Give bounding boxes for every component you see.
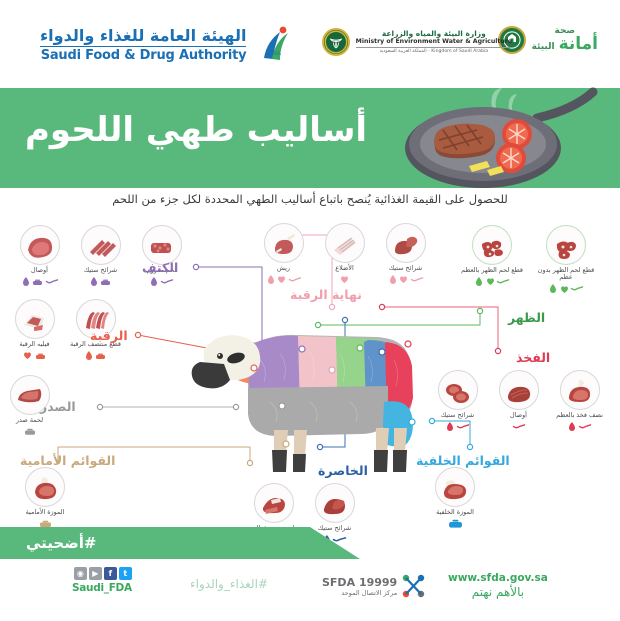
group-shoulder: أوصال شرائح ستيك [12,225,198,287]
item-cut[interactable]: الأضلاع [317,223,372,285]
pan-icon [46,279,58,285]
grill-flame-icon [568,422,576,432]
meat-thumb-icon [499,370,539,410]
grill-flame-icon [150,277,158,287]
pot-icon [95,352,106,360]
sheep-illustration [190,310,430,480]
sfda-knot-icon [402,573,428,599]
meat-thumb-icon [325,223,365,263]
group-label-shoulder: الكتف [142,260,178,275]
cooking-methods [378,274,433,285]
cooking-methods [73,276,128,287]
cooking-methods [256,274,311,285]
subtitle: للحصول على القيمة الغذائية يُنصح باتباع … [0,192,620,206]
page-title: أساليب طهي اللحوم [25,110,367,150]
call-sub: مركز الاتصال الموحد [322,589,397,597]
items-neck-end: ريش الأضلاع [256,223,442,285]
meat-thumb-icon [142,225,182,265]
cooking-methods [491,421,546,432]
meat-thumb-icon [20,225,60,265]
meat-thumb-icon [254,483,294,523]
item-cut[interactable]: أوصال [491,370,546,432]
logo-amana: صحة البيئة أمانة [498,26,598,54]
items-back: قطع لحم الظهر بالعظم قطع لحم الظهر بدون … [460,225,620,295]
logo-sfda: SFDA الهيئة العامة للغذاء والدواء Saudi … [40,24,294,64]
meat-thumb-icon [15,299,55,339]
amana-big: أمانة [559,36,598,53]
pot-icon [32,278,43,286]
twitter-icon[interactable]: t [119,567,132,580]
meat-cuts-diagram: أوصال شرائح ستيك [0,215,620,525]
pot-icon [24,427,36,436]
cooking-methods [134,276,189,287]
pan-icon [457,424,469,430]
instagram-icon[interactable]: ◉ [74,567,87,580]
pan-icon [571,286,583,292]
meat-thumb-icon [264,223,304,263]
group-label-neck-end: نهاية الرقبة [290,287,362,302]
mewa-wordmark: وزارة البيئة والمياه والزراعة Ministry o… [356,29,512,55]
items-hind-legs: الموزة الخلفية [410,467,500,529]
infographic-page: صحة البيئة أمانة وزارة البيئة وال [0,0,620,621]
item-label: أوصال [491,412,546,419]
item-cut[interactable]: شرائح ستيك [430,370,485,432]
item-cut[interactable]: نصف فخذ بالعظم [552,370,607,432]
call-text: SFDA 19999 مركز الاتصال الموحد [322,576,397,597]
item-label: شرائح ستيك [73,267,128,274]
group-label-thigh: الفخذ [516,350,550,365]
heart-icon [399,275,408,284]
footer: t f ▶ ◉ Saudi_FDA #الغذاء_والدواء [0,559,620,621]
social-handle: Saudi_FDA [72,582,132,594]
group-label-front-legs: القوائم الأمامية [20,453,115,468]
item-cut[interactable]: فيليه الرقبة [7,299,62,361]
svg-text:SFDA: SFDA [269,51,282,57]
item-cut[interactable]: الموزة الخلفية [428,467,483,529]
item-cut[interactable]: لحم مفروم [134,225,189,287]
grill-flame-icon [90,277,98,287]
item-cut[interactable]: أوصال [12,225,67,287]
item-cut[interactable]: الموزة الأمامية [18,467,73,529]
item-label: لحمة صدر [2,417,57,424]
meat-thumb-icon [438,370,478,410]
group-front-legs: الموزة الأمامية [0,467,90,529]
grill-flame-icon [85,351,93,361]
item-label: قطع لحم الظهر بدون عظم [534,267,598,282]
meat-thumb-icon [546,225,586,265]
amana-wordmark: صحة البيئة أمانة [532,27,598,53]
sfda-mark-icon: SFDA [254,24,294,64]
item-label: شرائح ستيك [378,265,433,272]
group-neck-end: ريش الأضلاع [256,223,442,285]
item-label: فيليه الرقبة [7,341,62,348]
heart-icon [340,275,349,284]
item-label: أوصال [12,267,67,274]
item-cut[interactable]: شرائح ستيك [73,225,128,287]
mewa-english-name: Ministry of Environment Water & Agricult… [356,38,512,46]
cooking-methods [534,284,598,295]
heart-icon [560,285,569,294]
mewa-arabic-name: وزارة البيئة والمياه والزراعة [356,29,512,38]
cooking-methods [317,274,372,285]
connector-dot [97,404,102,409]
call-label: SFDA [322,576,355,589]
sfda-english-name: Saudi Food & Drug Authority [40,46,246,63]
heart-icon [486,277,495,286]
item-label: الأضلاع [317,265,372,272]
item-label: الموزة الأمامية [18,509,73,516]
meat-thumb-icon [315,483,355,523]
header: صحة البيئة أمانة وزارة البيئة وال [0,0,620,88]
item-label: شرائح ستيك [430,412,485,419]
saudi-emblem-icon [322,28,350,56]
logo-mewa: وزارة البيئة والمياه والزراعة Ministry o… [322,28,512,56]
grill-flame-icon [389,275,397,285]
grill-flame-icon [22,277,30,287]
pan-icon [513,424,525,430]
website-url[interactable]: www.sfda.gov.sa [448,572,548,584]
connector-dot [467,444,472,449]
item-label: نصف فخذ بالعظم [552,412,607,419]
item-label: قطع لحم الظهر بالعظم [460,267,524,274]
connector-dot [135,332,140,337]
meat-thumb-icon [560,370,600,410]
item-cut[interactable]: شرائح ستيك [378,223,433,285]
pot-icon [100,278,111,286]
cooking-methods [68,350,123,361]
pot-icon [35,352,46,360]
facebook-icon[interactable]: f [104,567,117,580]
social-block: t f ▶ ◉ Saudi_FDA [72,567,132,594]
group-label-flank: الخاصرة [318,463,368,478]
heart-icon [277,275,286,284]
item-cut[interactable]: قطع لحم الظهر بدون عظم [534,225,598,295]
connector-dot [495,348,500,353]
hashtag-secondary: #الغذاء_والدواء [190,577,268,591]
pan-icon [289,277,301,283]
group-label-back: الظهر [508,310,545,325]
hashtag-main: #أضحيتي [26,534,96,552]
cooking-methods [460,276,524,287]
connector-dot [477,308,482,313]
group-hind-legs: الموزة الخلفية [410,467,500,529]
amana-line2: البيئة [532,43,555,52]
pan-icon [411,277,423,283]
items-front-legs: الموزة الأمامية [0,467,90,529]
mewa-kingdom-line: Kingdom of Saudi Arabia - المملكة العربي… [356,47,512,55]
meat-thumb-icon [81,225,121,265]
item-label: ريش [256,265,311,272]
youtube-icon[interactable]: ▶ [89,567,102,580]
items-shoulder: أوصال شرائح ستيك [12,225,198,287]
meat-thumb-icon [25,467,65,507]
item-label: الموزة الخلفية [428,509,483,516]
cooking-methods [7,350,62,361]
pan-icon [579,424,591,430]
call-number-line: SFDA 19999 [322,576,397,589]
social-icons: t f ▶ ◉ [72,567,132,580]
slogan: بالأهم نهتم [448,585,548,599]
heart-icon [23,351,32,360]
pan-icon [497,279,509,285]
grill-flame-icon [549,284,557,294]
group-thigh: شرائح ستيك أوصال [430,370,610,432]
group-back: قطع لحم الظهر بالعظم قطع لحم الظهر بدون … [460,225,620,295]
meat-thumb-icon [472,225,512,265]
connector-dot [329,304,334,309]
sfda-arabic-name: الهيئة العامة للغذاء والدواء [40,26,246,45]
meat-thumb-icon [386,223,426,263]
item-cut[interactable]: ريش [256,223,311,285]
sfda-wordmark: الهيئة العامة للغذاء والدواء Saudi Food … [40,26,246,63]
cooking-methods [430,421,485,432]
cooking-methods [12,276,67,287]
item-cut[interactable]: قطع لحم الظهر بالعظم [460,225,524,295]
call-number: 19999 [359,576,397,589]
cooking-methods [2,426,57,437]
grill-flame-icon [475,277,483,287]
cooking-methods [552,421,607,432]
grill-flame-icon [267,275,275,285]
group-label-hind-legs: القوائم الخلفية [416,453,510,468]
meat-thumb-icon [435,467,475,507]
hashtag-strip: #أضحيتي [0,527,620,559]
connector-dot [379,304,384,309]
call-center-block: SFDA 19999 مركز الاتصال الموحد [322,573,428,599]
group-label-breast: الصدر [40,399,76,414]
pan-icon [161,279,173,285]
website-block: www.sfda.gov.sa بالأهم نهتم [448,572,548,599]
group-label-neck: الرقبة [90,328,128,343]
grill-flame-icon [446,422,454,432]
frying-pan-illustration [399,82,614,197]
items-thigh: شرائح ستيك أوصال [430,370,610,432]
